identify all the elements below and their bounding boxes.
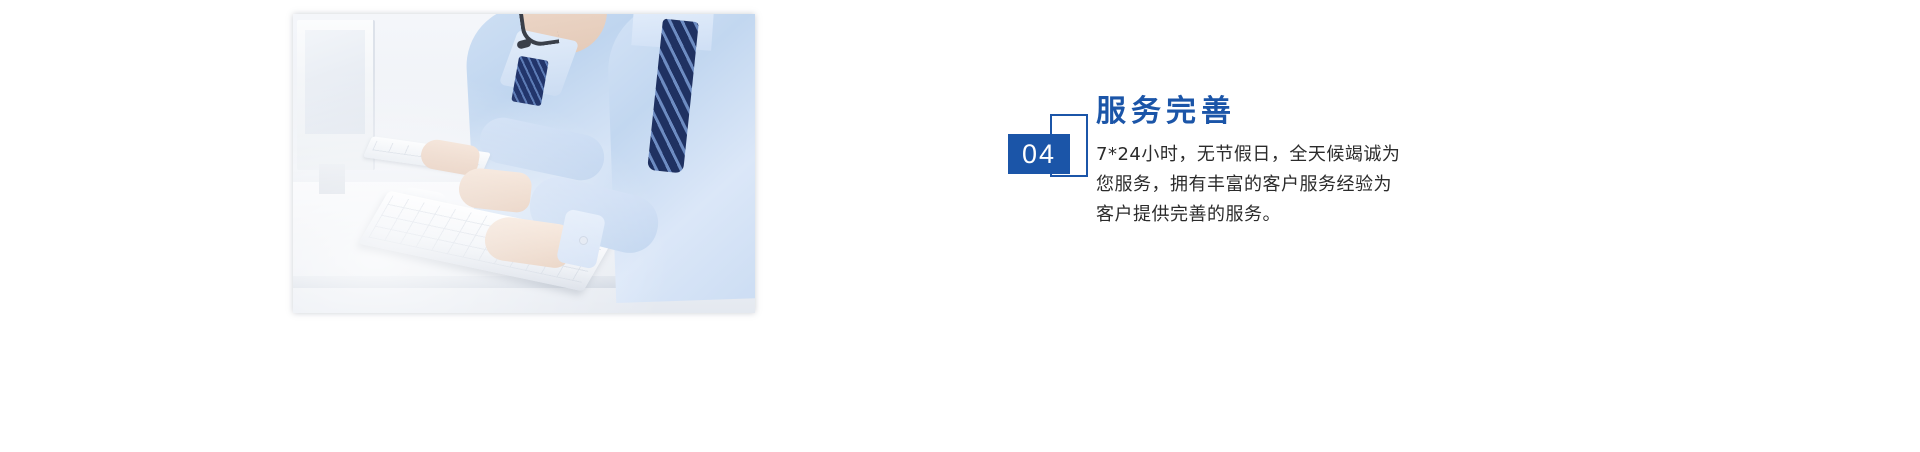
customer-service-photo <box>293 14 755 313</box>
feature-photo-frame <box>293 14 755 313</box>
step-badge: 04 <box>1008 120 1098 184</box>
badge-number: 04 <box>1022 141 1056 168</box>
feature-description-line-3: 客户提供完善的服务。 <box>1096 200 1496 230</box>
monitor-stand <box>319 164 345 194</box>
page-root: 04 服务完善 7*24小时，无节假日，全天候竭诚为 您服务，拥有丰富的客户服务… <box>0 0 1920 452</box>
feature-description-line-2: 您服务，拥有丰富的客户服务经验为 <box>1096 170 1496 200</box>
monitor-screen <box>305 30 365 134</box>
monitor-icon <box>297 20 375 170</box>
cuff-button <box>579 236 588 245</box>
badge-filled-box: 04 <box>1008 134 1070 174</box>
feature-title: 服务完善 <box>1096 92 1236 132</box>
feature-description: 7*24小时，无节假日，全天候竭诚为 您服务，拥有丰富的客户服务经验为 客户提供… <box>1096 140 1496 230</box>
feature-description-line-1: 7*24小时，无节假日，全天候竭诚为 <box>1096 140 1496 170</box>
